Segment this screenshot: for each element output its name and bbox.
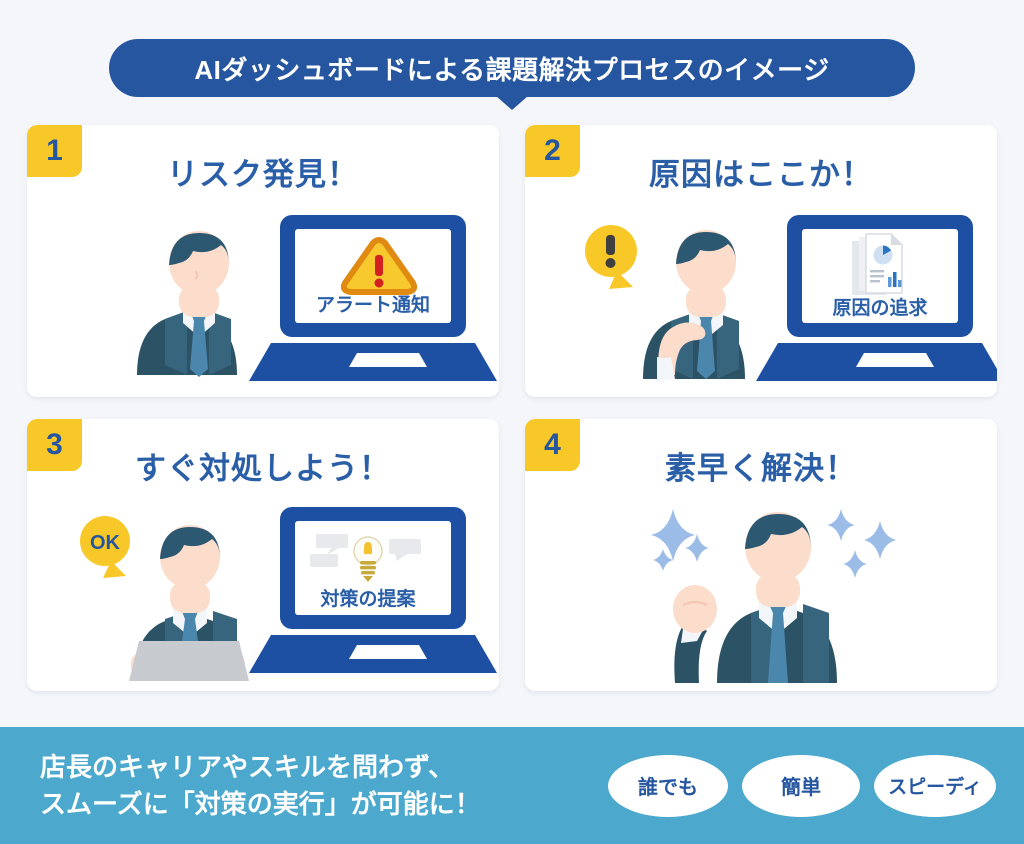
sparkle-icon bbox=[685, 534, 709, 562]
illustration-risk-detection: アラート通知 bbox=[27, 207, 499, 389]
card-illustration: OK bbox=[27, 501, 499, 683]
card-title: リスク発見！ bbox=[27, 149, 499, 194]
sparkle-icon bbox=[827, 509, 855, 541]
card-title: 原因はここか！ bbox=[525, 149, 997, 194]
illustration-cause-analysis: 原因の追求 bbox=[525, 207, 997, 389]
bottom-banner-line-2: スムーズに「対策の実行」が可能に！ bbox=[40, 786, 481, 823]
ok-bubble-label: OK bbox=[90, 532, 121, 554]
title-banner: AIダッシュボードによる課題解決プロセスのイメージ bbox=[109, 39, 915, 97]
benefit-pill-anyone[interactable]: 誰でも bbox=[608, 755, 728, 817]
card-illustration: 原因の追求 bbox=[525, 207, 997, 389]
sparkle-icon bbox=[864, 521, 896, 559]
laptop-device: 原因の追求 bbox=[756, 215, 997, 381]
benefit-pill-speedy[interactable]: スピーディ bbox=[874, 755, 996, 817]
process-card-3[interactable]: 3 すぐ対処しよう！ OK bbox=[27, 419, 499, 691]
screen-label: 対策の提案 bbox=[319, 587, 416, 610]
benefit-pill-easy[interactable]: 簡単 bbox=[742, 755, 860, 817]
exclamation-speech-bubble bbox=[585, 225, 637, 289]
illustration-quick-resolution bbox=[525, 501, 997, 683]
bottom-banner-line-1: 店長のキャリアやスキルを問わず、 bbox=[40, 749, 481, 786]
card-title: 素早く解決！ bbox=[525, 443, 997, 488]
process-card-1[interactable]: 1 リスク発見！ bbox=[27, 125, 499, 397]
laptop-device: アラート通知 bbox=[249, 215, 497, 381]
card-illustration bbox=[525, 501, 997, 683]
bottom-banner-text: 店長のキャリアやスキルを問わず、 スムーズに「対策の実行」が可能に！ bbox=[40, 749, 481, 823]
sparkle-icon bbox=[653, 549, 673, 571]
process-cards-grid: 1 リスク発見！ bbox=[27, 125, 997, 691]
bottom-banner: 店長のキャリアやスキルを問わず、 スムーズに「対策の実行」が可能に！ 誰でも 簡… bbox=[0, 727, 1024, 844]
businessman-with-laptop-figure bbox=[129, 525, 249, 681]
thinking-businessman-figure bbox=[643, 230, 745, 381]
card-title: すぐ対処しよう！ bbox=[27, 443, 499, 488]
card-illustration: アラート通知 bbox=[27, 207, 499, 389]
documents-chart-icon bbox=[852, 234, 902, 295]
title-banner-pointer-icon bbox=[496, 96, 528, 110]
screen-label: 原因の追求 bbox=[832, 296, 928, 319]
businessman-figure bbox=[137, 231, 237, 377]
title-banner-body: AIダッシュボードによる課題解決プロセスのイメージ bbox=[109, 39, 915, 97]
laptop-device: 対策の提案 bbox=[249, 507, 497, 673]
ok-speech-bubble: OK bbox=[80, 516, 130, 578]
screen-label: アラート通知 bbox=[316, 293, 430, 316]
sparkle-icon bbox=[843, 550, 867, 578]
sparkle-icon bbox=[651, 509, 695, 561]
process-card-4[interactable]: 4 素早く解決！ bbox=[525, 419, 997, 691]
benefit-pills: 誰でも 簡単 スピーディ bbox=[608, 755, 996, 817]
page-title: AIダッシュボードによる課題解決プロセスのイメージ bbox=[194, 50, 829, 87]
process-card-2[interactable]: 2 原因はここか！ bbox=[525, 125, 997, 397]
illustration-countermeasure: OK bbox=[27, 501, 499, 683]
